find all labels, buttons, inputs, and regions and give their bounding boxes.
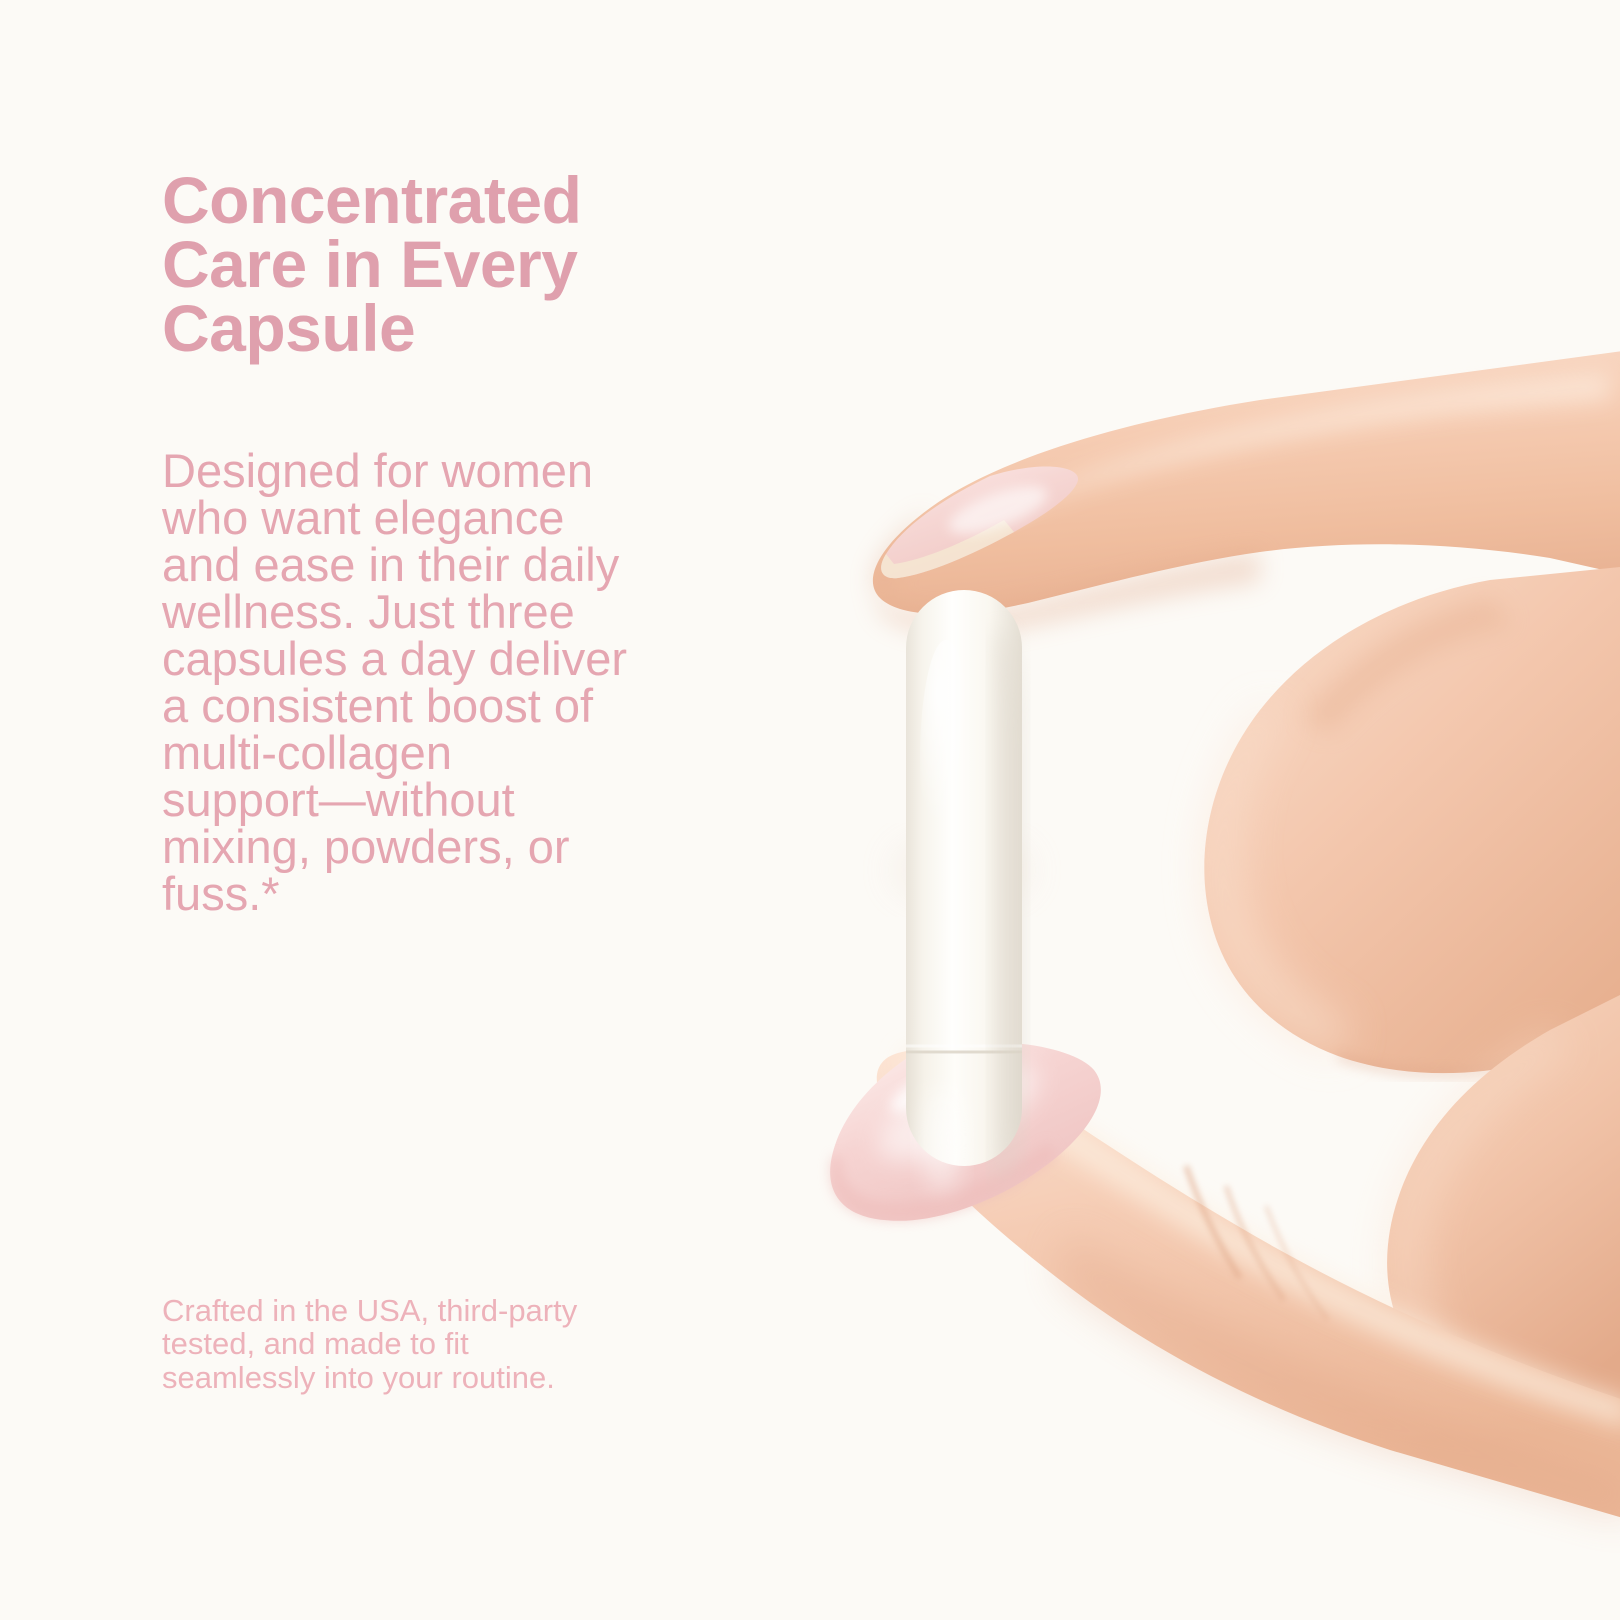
hand-holding-capsule-image	[790, 330, 1620, 1590]
footer-note: Crafted in the USA, third-party tested, …	[162, 1294, 762, 1394]
capsule	[896, 590, 1028, 1192]
page-title: Concentrated Care in Every Capsule	[162, 168, 702, 360]
text-column: Concentrated Care in Every Capsule	[162, 168, 702, 360]
middle-finger-knuckle	[1204, 566, 1620, 1073]
product-poster: Concentrated Care in Every Capsule Desig…	[0, 0, 1620, 1620]
body-description: Designed for women who want elegance and…	[162, 447, 692, 917]
